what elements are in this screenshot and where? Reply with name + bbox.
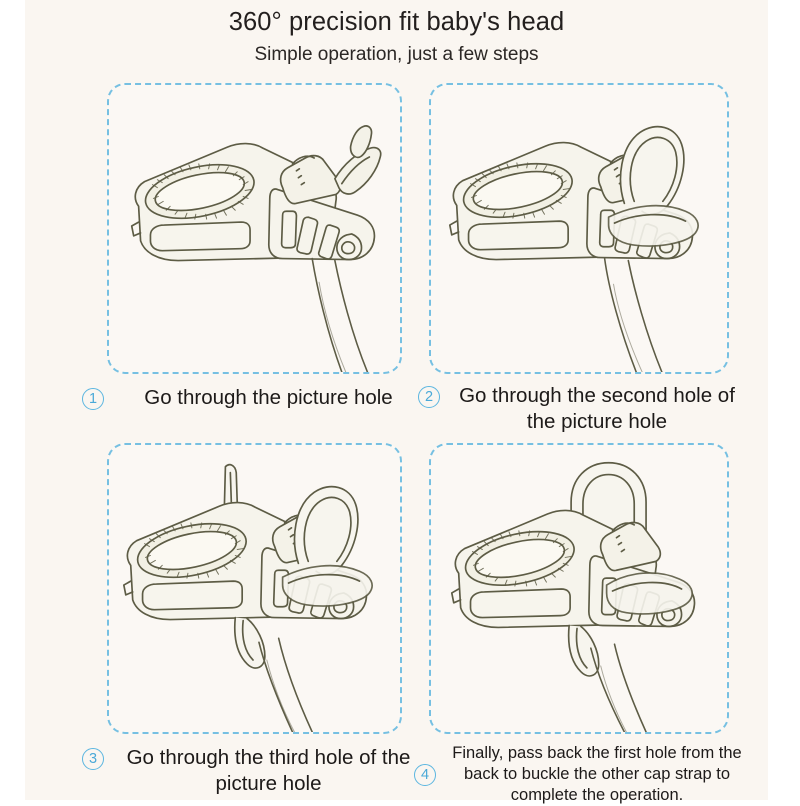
step-4-badge: 4 xyxy=(414,764,436,786)
content-plate: 360° precision fit baby's head Simple op… xyxy=(25,0,768,800)
page-title: 360° precision fit baby's head xyxy=(25,6,768,38)
step-3-caption-text: Go through the third hole of the picture… xyxy=(104,745,427,797)
step-4-caption-text: Finally, pass back the first hole from t… xyxy=(436,743,754,806)
buckle-clip-illustration-1 xyxy=(109,85,400,372)
step-3: 3 Go through the third hole of the pictu… xyxy=(82,443,427,793)
header: 360° precision fit baby's head Simple op… xyxy=(25,6,768,67)
step-4-caption: 4 Finally, pass back the first hole from… xyxy=(414,743,754,806)
step-2-caption-text: Go through the second hole of the pictur… xyxy=(440,383,748,435)
step-4-illustration-panel xyxy=(429,443,729,734)
step-1-caption: 1 Go through the picture hole xyxy=(82,385,427,411)
step-1-badge: 1 xyxy=(82,388,104,410)
buckle-clip-illustration-2 xyxy=(431,85,727,372)
step-1: 1 Go through the picture hole xyxy=(82,83,427,428)
step-2-badge: 2 xyxy=(418,386,440,408)
step-4: 4 Finally, pass back the first hole from… xyxy=(404,443,759,793)
step-2-caption: 2 Go through the second hole of the pict… xyxy=(418,383,748,435)
step-1-illustration-panel xyxy=(107,83,402,374)
product-instruction-graphic: 360° precision fit baby's head Simple op… xyxy=(0,0,800,800)
step-2-illustration-panel xyxy=(429,83,729,374)
step-1-caption-text: Go through the picture hole xyxy=(104,385,427,411)
step-2: 2 Go through the second hole of the pict… xyxy=(404,83,759,443)
page-subtitle: Simple operation, just a few steps xyxy=(25,42,768,67)
buckle-clip-illustration-4 xyxy=(431,445,727,732)
buckle-clip-illustration-3 xyxy=(109,445,400,732)
step-3-illustration-panel xyxy=(107,443,402,734)
step-3-badge: 3 xyxy=(82,748,104,770)
step-3-caption: 3 Go through the third hole of the pictu… xyxy=(82,745,427,797)
